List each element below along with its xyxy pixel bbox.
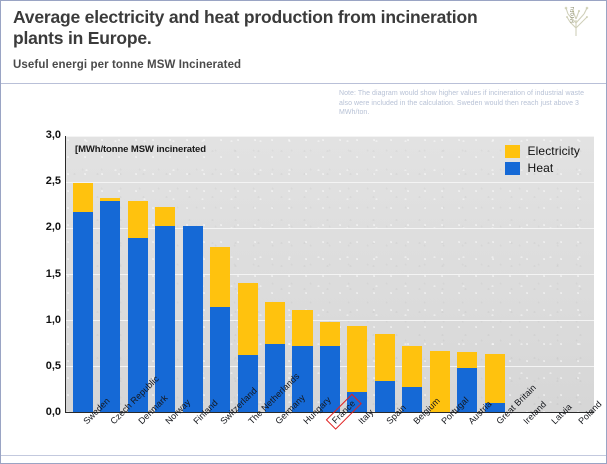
legend-label: Electricity (528, 144, 580, 158)
stacked-bar[interactable] (73, 183, 93, 412)
page-title: Average electricity and heat production … (13, 7, 523, 49)
bar-segment-heat[interactable] (375, 381, 395, 412)
bar-segment-electricity[interactable] (238, 283, 258, 355)
slide-page: Average electricity and heat production … (0, 0, 607, 464)
bar-segment-electricity[interactable] (292, 310, 312, 346)
y-axis-tick: 1,0 (27, 314, 61, 326)
company-logo-icon (552, 4, 600, 38)
bar-slot[interactable] (371, 136, 398, 412)
bar-slot[interactable] (563, 136, 590, 412)
chart-note: Note: The diagram would show higher valu… (339, 89, 594, 118)
y-axis-tick: 2,5 (27, 175, 61, 187)
plot-background (66, 136, 594, 412)
stacked-bar[interactable] (100, 198, 120, 412)
stacked-bar[interactable] (375, 334, 395, 412)
legend-label: Heat (528, 161, 554, 175)
bar-segment-electricity[interactable] (155, 207, 175, 225)
bar-slot[interactable] (399, 136, 426, 412)
stacked-bar[interactable] (402, 346, 422, 412)
legend-item[interactable]: Electricity (505, 144, 580, 158)
bar-segment-electricity[interactable] (375, 334, 395, 380)
plot-area: [MWh/tonne MSW incinerated ElectricityHe… (65, 136, 594, 413)
unit-label: [MWh/tonne MSW incinerated (75, 144, 206, 155)
bar-segment-electricity[interactable] (485, 354, 505, 403)
bar-slot[interactable] (344, 136, 371, 412)
legend-swatch-icon (505, 162, 520, 175)
bar-segment-electricity[interactable] (347, 326, 367, 392)
bar-segment-heat[interactable] (210, 307, 230, 412)
slide-header: Average electricity and heat production … (1, 1, 606, 84)
bar-segment-heat[interactable] (183, 226, 203, 413)
stacked-bar[interactable] (210, 247, 230, 412)
y-axis-tick: 2,0 (27, 221, 61, 233)
bar-segment-electricity[interactable] (457, 352, 477, 368)
y-axis-tick: 3,0 (27, 129, 61, 141)
footer-divider (1, 455, 606, 463)
bar-slot[interactable] (179, 136, 206, 412)
legend-item[interactable]: Heat (505, 161, 580, 175)
y-axis-tick: 0,0 (27, 406, 61, 418)
chart-legend: ElectricityHeat (505, 144, 580, 175)
bar-slot[interactable] (96, 136, 123, 412)
stacked-bar[interactable] (183, 226, 203, 413)
y-axis-tick: 0,5 (27, 360, 61, 372)
bar-segment-electricity[interactable] (320, 322, 340, 347)
bar-slot[interactable] (124, 136, 151, 412)
bar-segment-heat[interactable] (73, 212, 93, 412)
bar-slot[interactable] (536, 136, 563, 412)
y-axis-tick: 1,5 (27, 268, 61, 280)
bar-segment-heat[interactable] (100, 201, 120, 412)
bar-slot[interactable] (234, 136, 261, 412)
bar-segment-electricity[interactable] (402, 346, 422, 387)
bar-slot[interactable] (69, 136, 96, 412)
bar-slot[interactable] (261, 136, 288, 412)
bar-series-group (66, 136, 594, 412)
bar-segment-electricity[interactable] (265, 302, 285, 344)
bar-slot[interactable] (206, 136, 233, 412)
bar-slot[interactable] (454, 136, 481, 412)
legend-swatch-icon (505, 145, 520, 158)
bar-slot[interactable] (509, 136, 536, 412)
bar-slot[interactable] (151, 136, 178, 412)
stacked-bar[interactable] (128, 201, 148, 412)
bar-segment-electricity[interactable] (73, 183, 93, 212)
bar-slot[interactable] (481, 136, 508, 412)
bar-slot[interactable] (316, 136, 343, 412)
chart-container: 3,02,52,01,51,00,50,0 [MWh/tonne MSW inc… (1, 119, 606, 464)
y-axis: 3,02,52,01,51,00,50,0 (21, 136, 61, 413)
bar-slot[interactable] (426, 136, 453, 412)
bar-segment-electricity[interactable] (210, 247, 230, 307)
page-subtitle: Useful energi per tonne MSW Incinerated (13, 59, 241, 71)
bar-segment-heat[interactable] (155, 226, 175, 413)
bar-segment-electricity[interactable] (128, 201, 148, 238)
